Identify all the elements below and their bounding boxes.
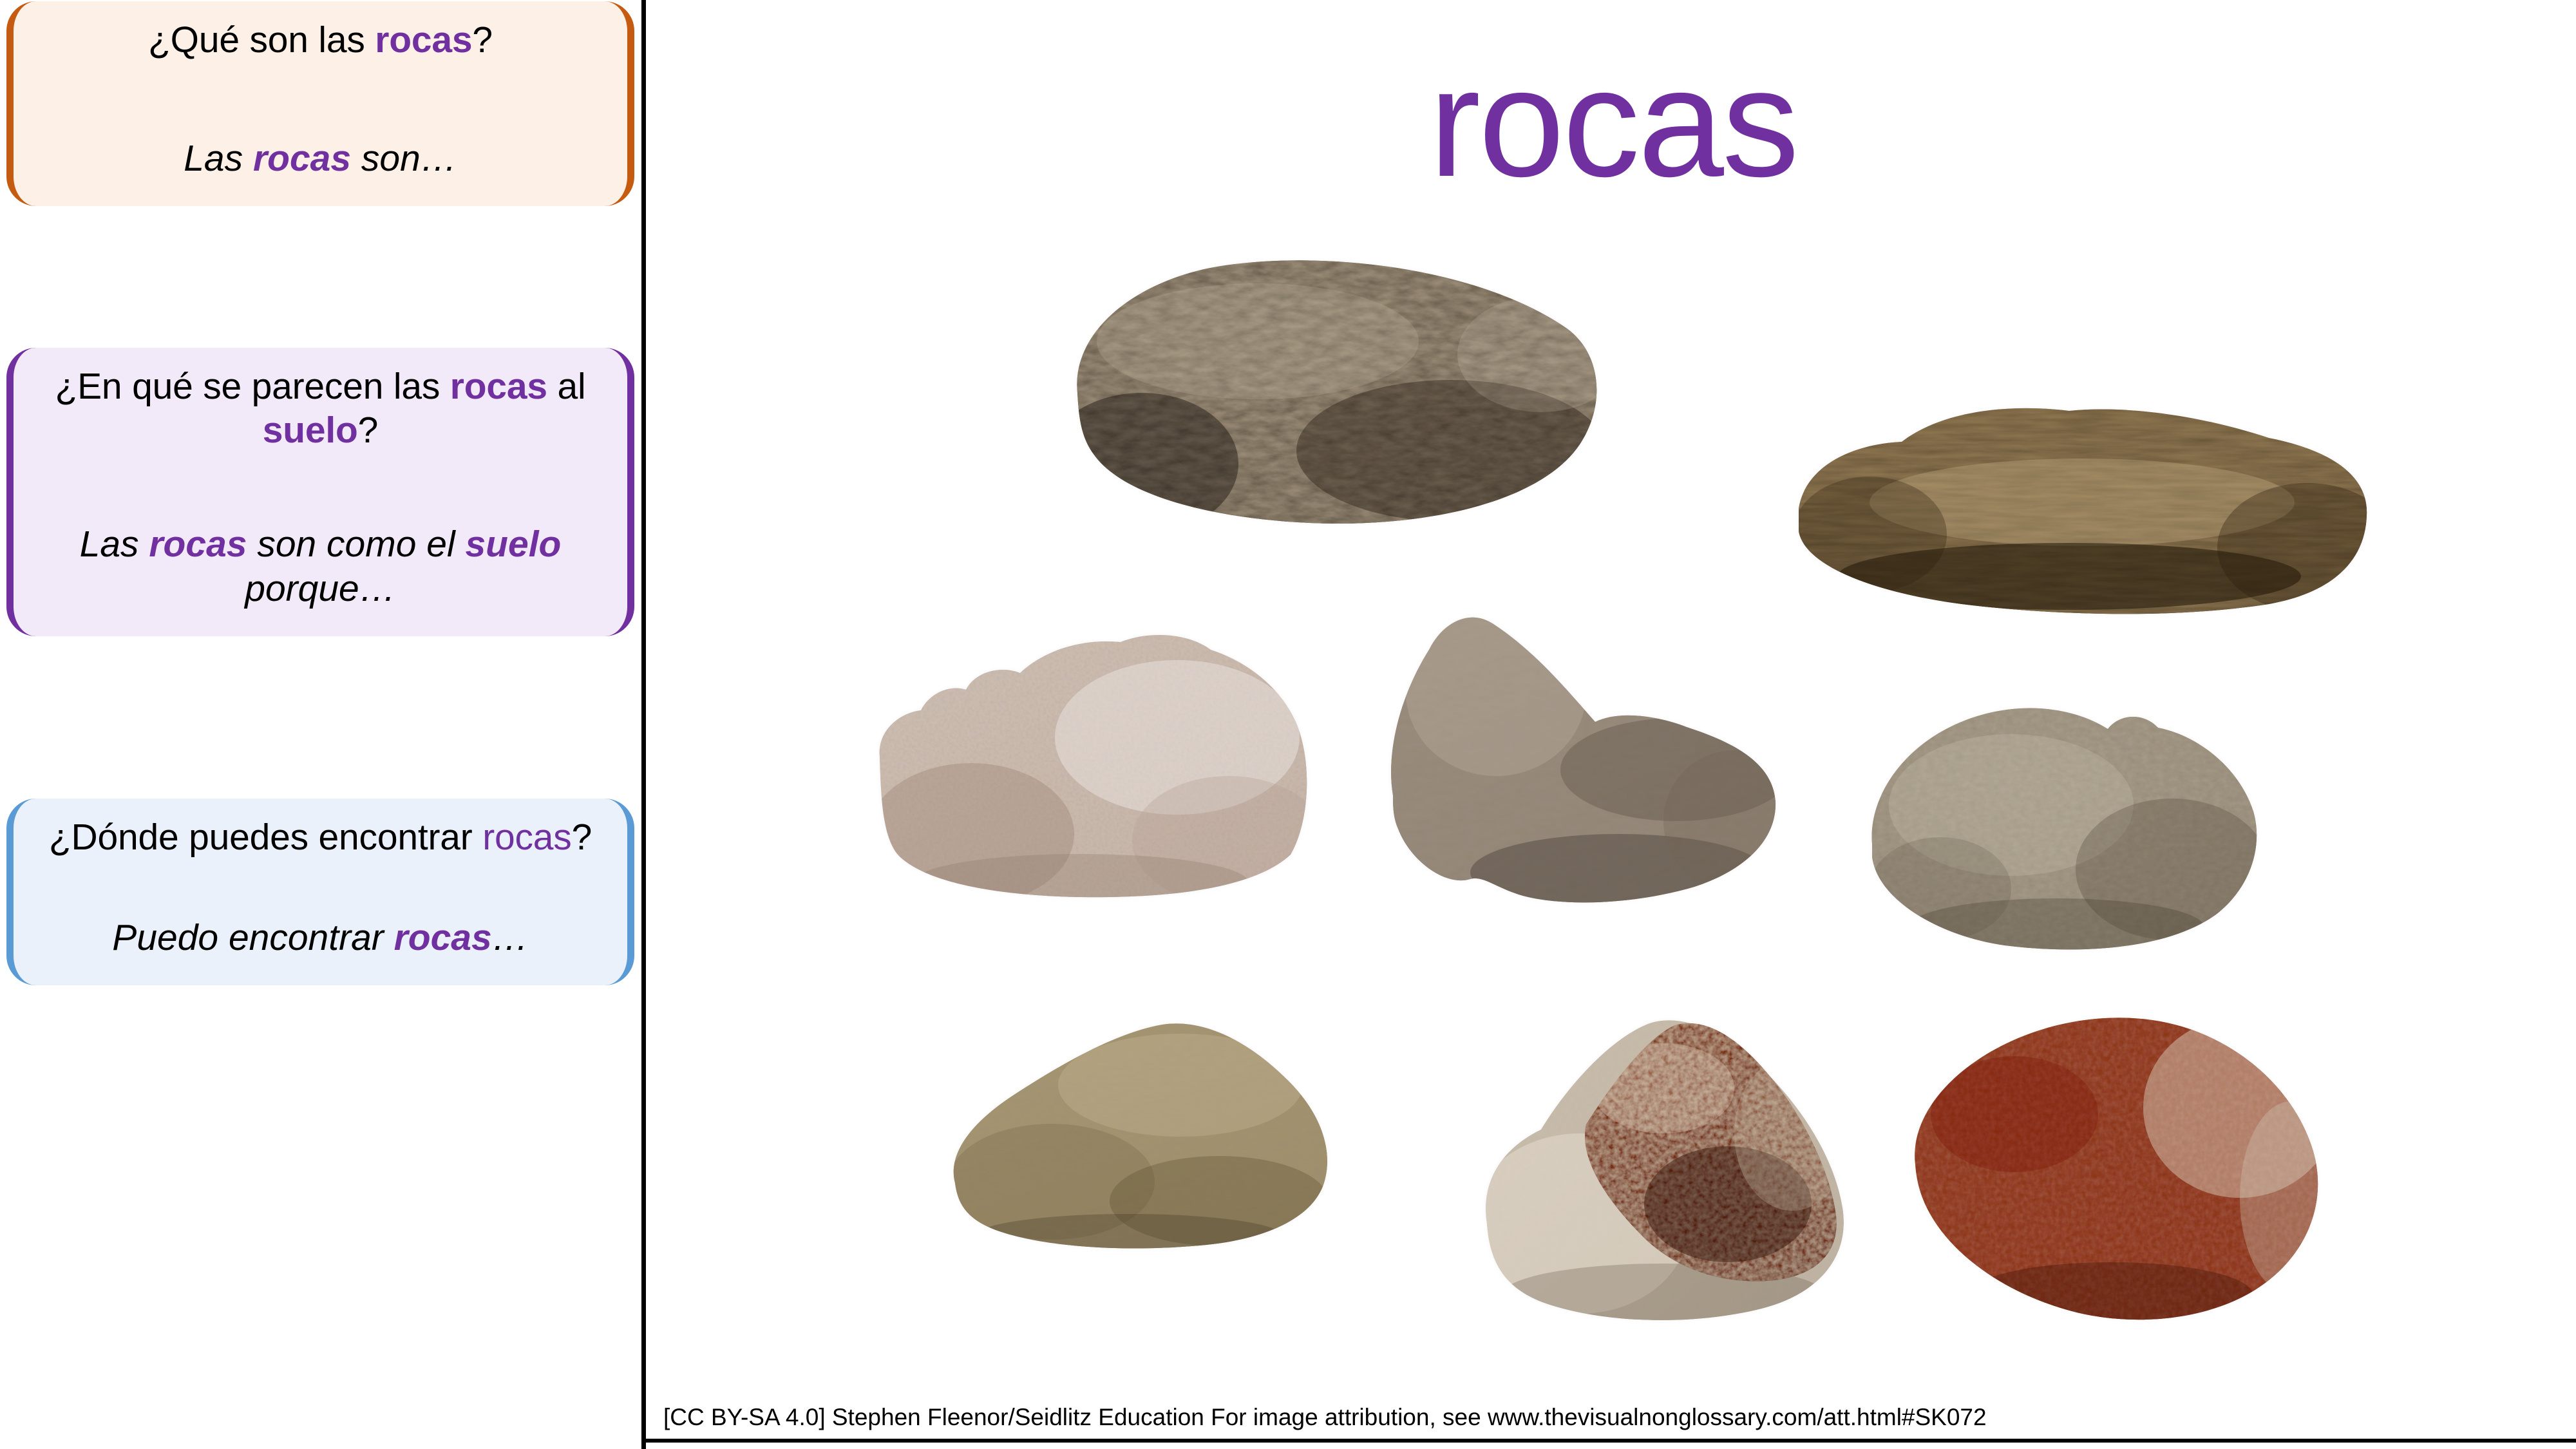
stem-q2-keyword-suelo: suelo xyxy=(263,410,358,451)
rock-pale-porous-sandstone xyxy=(868,628,1319,905)
stem-q2-part-2: al xyxy=(547,366,586,407)
stem-a3-part-2: … xyxy=(492,917,529,958)
stem-a1-keyword-rocas: rocas xyxy=(253,138,351,179)
sentence-stem-column: ¿Qué son las rocas? Las rocas son… ¿En q… xyxy=(0,0,641,1449)
stem-q3-part-0: ¿Dónde puedes encontrar xyxy=(49,817,482,858)
stem-q2-part-4: ? xyxy=(358,410,379,451)
stem-q1-keyword-rocas: rocas xyxy=(375,19,472,61)
stem-box-what-are-rocks[interactable]: ¿Qué son las rocas? Las rocas son… xyxy=(6,1,634,206)
rock-gray-peaked-boulder xyxy=(1374,602,1779,911)
stem-a1-part-0: Las xyxy=(184,138,253,179)
stem-box-where-find-rocks[interactable]: ¿Dónde puedes encontrar rocas? Puedo enc… xyxy=(6,799,634,985)
rock-brown-banded-elongated xyxy=(1792,399,2372,618)
stem-a2-part-2: son como el xyxy=(247,524,465,565)
stem-a3-keyword-rocas: rocas xyxy=(394,917,492,958)
page-title: rocas xyxy=(646,45,2576,200)
stem-q3-part-2: ? xyxy=(572,817,592,858)
attribution-text: [CC BY-SA 4.0] Stephen Fleenor/Seidlitz … xyxy=(663,1405,2531,1431)
stem-a1-part-2: son… xyxy=(351,138,457,179)
stem-q2-part-0: ¿En qué se parecen las xyxy=(55,366,450,407)
stem-question-text: ¿Dónde puedes encontrar rocas? xyxy=(35,815,605,859)
stem-q3-keyword-rocas: rocas xyxy=(482,817,571,858)
stem-question-text: ¿En qué se parecen las rocas al suelo? xyxy=(35,365,605,453)
rock-tan-smooth-wedge xyxy=(936,1014,1335,1253)
rock-red-ochre-jasper xyxy=(1899,1005,2324,1327)
stem-answer-text: Puedo encontrar rocas… xyxy=(35,916,605,960)
stem-a2-keyword-rocas: rocas xyxy=(149,524,247,565)
stem-answer-text: Las rocas son como el suelo porque… xyxy=(35,522,605,611)
stem-a2-part-4: porque… xyxy=(245,568,396,609)
stem-a2-keyword-suelo: suelo xyxy=(465,524,561,565)
stem-a3-part-0: Puedo encontrar xyxy=(112,917,393,958)
stem-a2-part-0: Las xyxy=(80,524,149,565)
rock-white-with-red-face xyxy=(1470,1011,1857,1320)
stem-q2-keyword-rocas: rocas xyxy=(450,366,547,407)
stem-question-text: ¿Qué son las rocas? xyxy=(35,18,605,62)
stem-answer-text: Las rocas son… xyxy=(35,137,605,180)
footer-divider xyxy=(641,1439,2576,1443)
rock-collection xyxy=(646,270,2576,1314)
slide-canvas: ¿Qué son las rocas? Las rocas son… ¿En q… xyxy=(0,0,2576,1449)
rock-gray-rounded-cobble xyxy=(1863,696,2262,953)
stem-box-how-similar-to-soil[interactable]: ¿En qué se parecen las rocas al suelo? L… xyxy=(6,348,634,636)
stem-q1-part-0: ¿Qué son las xyxy=(148,19,375,61)
stem-q1-part-2: ? xyxy=(472,19,493,61)
illustration-panel: rocas xyxy=(641,0,2576,1449)
rock-dark-speckled-granite xyxy=(1065,258,1605,528)
